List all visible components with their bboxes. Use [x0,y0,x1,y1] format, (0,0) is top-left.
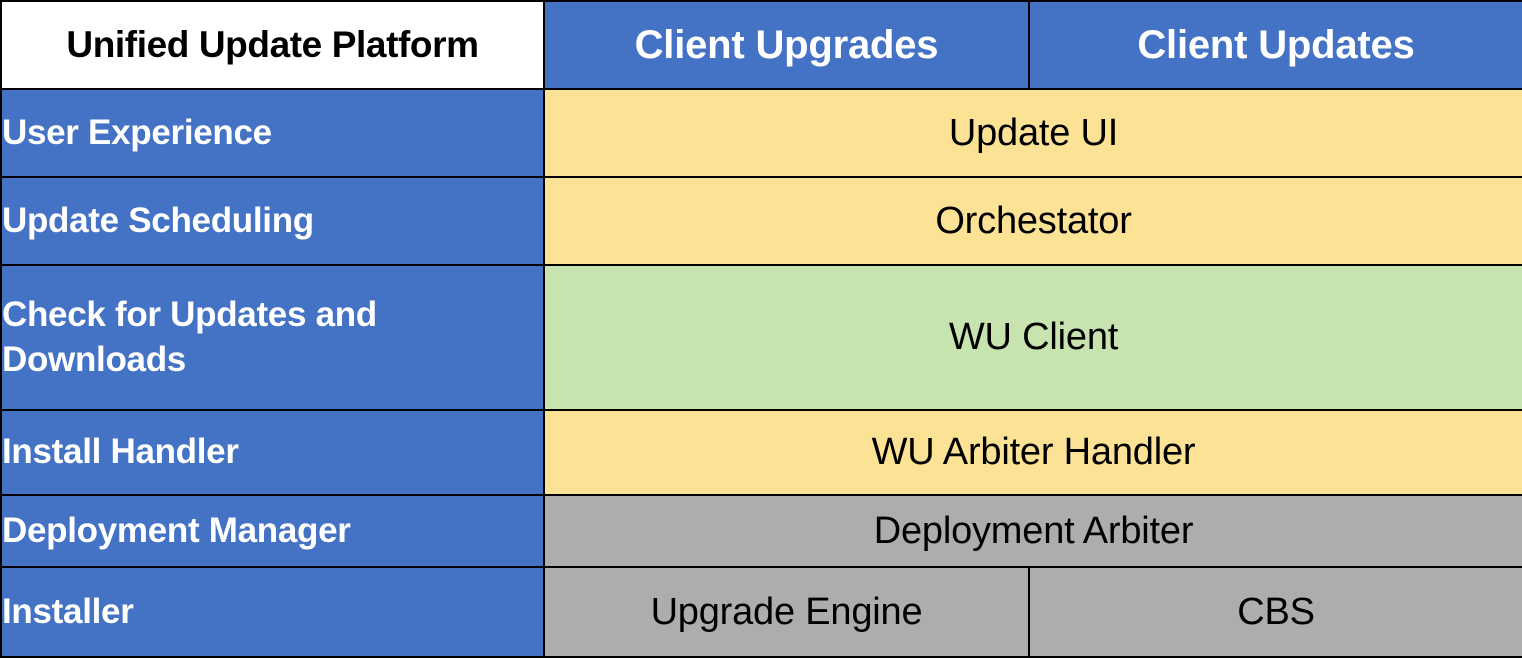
row-header-update-scheduling: Update Scheduling [1,177,544,265]
table-row: User Experience Update UI [1,89,1522,177]
table-row: Update Scheduling Orchestator [1,177,1522,265]
cell-upgrade-engine: Upgrade Engine [544,567,1029,657]
cell-wu-arbiter-handler: WU Arbiter Handler [544,410,1522,495]
cell-deployment-arbiter: Deployment Arbiter [544,495,1522,567]
table-row: Install Handler WU Arbiter Handler [1,410,1522,495]
unified-update-platform-table: Unified Update Platform Client Upgrades … [0,0,1522,658]
cell-cbs: CBS [1029,567,1522,657]
row-header-check-for-updates-and-downloads: Check for Updates and Downloads [1,265,544,410]
column-header-client-updates: Client Updates [1029,1,1522,89]
row-header-installer: Installer [1,567,544,657]
row-header-user-experience: User Experience [1,89,544,177]
cell-orchestator: Orchestator [544,177,1522,265]
row-header-install-handler: Install Handler [1,410,544,495]
table-header-row: Unified Update Platform Client Upgrades … [1,1,1522,89]
cell-update-ui: Update UI [544,89,1522,177]
table-row: Installer Upgrade Engine CBS [1,567,1522,657]
table-row: Check for Updates and Downloads WU Clien… [1,265,1522,410]
column-header-client-upgrades: Client Upgrades [544,1,1029,89]
row-header-deployment-manager: Deployment Manager [1,495,544,567]
page-title: Unified Update Platform [1,1,544,89]
cell-wu-client: WU Client [544,265,1522,410]
table-row: Deployment Manager Deployment Arbiter [1,495,1522,567]
